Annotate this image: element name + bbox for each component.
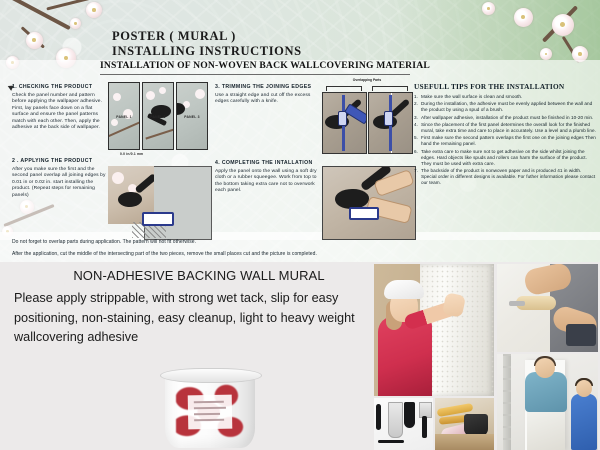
step-completing-the-installation: 4. COMPLETING THE INTALLATION Apply the …: [215, 160, 323, 195]
three-panel-illustration: PANEL 1 PANEL 2 PANEL 3: [108, 82, 208, 150]
tip-number: 7.: [414, 168, 418, 174]
photo-content: [497, 264, 598, 352]
tip-number: 6.: [414, 149, 418, 155]
bucket-label: [188, 395, 233, 430]
squeegee-icon: [142, 212, 174, 226]
tip-text: First make sure the second pattern overl…: [421, 135, 596, 147]
trimming-illustration: Overlapping Parts: [322, 78, 412, 152]
photo-content: [374, 398, 433, 450]
completing-illustration: [322, 166, 416, 240]
applying-illustration: [108, 166, 212, 238]
title-divider: [100, 74, 410, 75]
disclaimer-line-2: After the application, cut the middle of…: [12, 251, 532, 258]
tip-number: 3.: [414, 115, 418, 121]
tip-text: Take extra care to make sure not to get …: [421, 149, 596, 167]
photo-woman-hanging-wallpaper: [374, 264, 494, 396]
photo-wallpaper-rolls-and-paste: [435, 398, 494, 450]
tips-title: USEFULL TIPS FOR THE INSTALLATION: [414, 82, 596, 91]
photo-content: [374, 264, 494, 396]
ruler-clip-icon: [384, 111, 393, 126]
panel-2-thumbnail: PANEL 2: [142, 82, 174, 150]
tip-number: 5.: [414, 135, 418, 141]
panel-label: PANEL 2: [150, 115, 165, 119]
tip-text: The backside of the product is nonwoven …: [421, 168, 596, 186]
tip-text: Since the placement of the first panel d…: [421, 122, 596, 134]
overlap-measure-left: [326, 86, 362, 91]
tip-number: 4.: [414, 122, 418, 128]
overlapping-parts-label: Overlapping Parts: [322, 78, 412, 82]
title-line-2: INSTALLING INSTRUCTIONS: [112, 44, 302, 59]
tip-item: 2.During the installation, the adhesive …: [414, 101, 596, 113]
photo-man-and-boy-smoothing-wall: [497, 354, 598, 450]
panel-measurement-caption: 0.0 in/0.1 mm: [120, 152, 143, 156]
step-body: Check the panel number and pattern befor…: [12, 93, 104, 133]
step-body: Apply the panel onto the wall using a so…: [215, 169, 323, 195]
title-line-1: POSTER ( MURAL ): [112, 29, 302, 44]
trim-panel-left: [322, 92, 367, 154]
panel-3-thumbnail: PANEL 3: [176, 82, 208, 150]
tip-item: 5.First make sure the second pattern ove…: [414, 135, 596, 147]
tip-number: 1.: [414, 94, 418, 100]
poster-instruction-page: POSTER ( MURAL ) INSTALLING INSTRUCTIONS…: [0, 0, 600, 450]
step-body: Use a straight edge and cut off the exce…: [215, 93, 320, 106]
step-title: 2 . APPLYING THE PRODUCT: [12, 158, 107, 164]
tip-item: 1.Make sure the wall surface is clean an…: [414, 94, 596, 100]
squeegee-icon: [349, 207, 379, 220]
tip-item: 6.Take extra care to make sure not to ge…: [414, 149, 596, 167]
panel-label: PANEL 3: [184, 115, 199, 119]
tip-item: 7.The backside of the product is nonwove…: [414, 168, 596, 186]
photo-content: [497, 354, 598, 450]
tips-list: 1.Make sure the wall surface is clean an…: [414, 94, 596, 186]
trim-panel-right: [368, 92, 413, 154]
page-subtitle: INSTALLATION OF NON-WOVEN BACK WALLCOVER…: [100, 60, 430, 71]
step-trimming-the-joining-edges: 3. TRIMMING THE JOINING EDGES Use a stra…: [215, 84, 320, 106]
lower-section: NON-ADHESIVE BACKING WALL MURAL Please a…: [0, 262, 600, 450]
tip-number: 2.: [414, 101, 418, 107]
step-checking-the-product: 1. CHECKING THE PRODUCT Check the panel …: [12, 84, 104, 132]
promo-heading: NON-ADHESIVE BACKING WALL MURAL: [14, 268, 370, 283]
panel-1-thumbnail: PANEL 1: [108, 82, 140, 150]
promo-text-block: NON-ADHESIVE BACKING WALL MURAL Please a…: [14, 268, 370, 348]
step-applying-the-product: 2 . APPLYING THE PRODUCT After you make …: [12, 158, 107, 199]
disclaimer-line-1: Do not forget to overlap parts during ap…: [12, 239, 472, 246]
step-title: 3. TRIMMING THE JOINING EDGES: [215, 84, 320, 90]
tip-text: After wallpaper adhesive, installation o…: [421, 115, 596, 121]
overlap-measure-right: [372, 86, 408, 91]
ruler-clip-icon: [338, 111, 347, 126]
step-title: 1. CHECKING THE PRODUCT: [12, 84, 104, 90]
step-body: After you make sure the first and the se…: [12, 167, 107, 200]
photo-wallpaper-tools: [374, 398, 433, 450]
promo-body: Please apply strippable, with strong wet…: [14, 289, 370, 348]
instruction-sheet: POSTER ( MURAL ) INSTALLING INSTRUCTIONS…: [0, 0, 600, 262]
tip-text: Make sure the wall surface is clean and …: [421, 94, 596, 100]
adhesive-bucket: [158, 368, 262, 448]
tip-text: During the installation, the adhesive mu…: [421, 101, 596, 113]
step-title: 4. COMPLETING THE INTALLATION: [215, 160, 323, 166]
page-title: POSTER ( MURAL ) INSTALLING INSTRUCTIONS: [112, 29, 302, 59]
tip-item: 4.Since the placement of the first panel…: [414, 122, 596, 134]
tip-item: 3.After wallpaper adhesive, installation…: [414, 115, 596, 121]
photo-hands-with-paint-roller: [497, 264, 598, 352]
photo-content: [435, 398, 494, 450]
bucket-body: [165, 375, 255, 448]
panel-label: PANEL 1: [116, 115, 131, 119]
bucket-lid: [160, 368, 262, 383]
tips-panel: USEFULL TIPS FOR THE INSTALLATION 1.Make…: [414, 82, 596, 188]
